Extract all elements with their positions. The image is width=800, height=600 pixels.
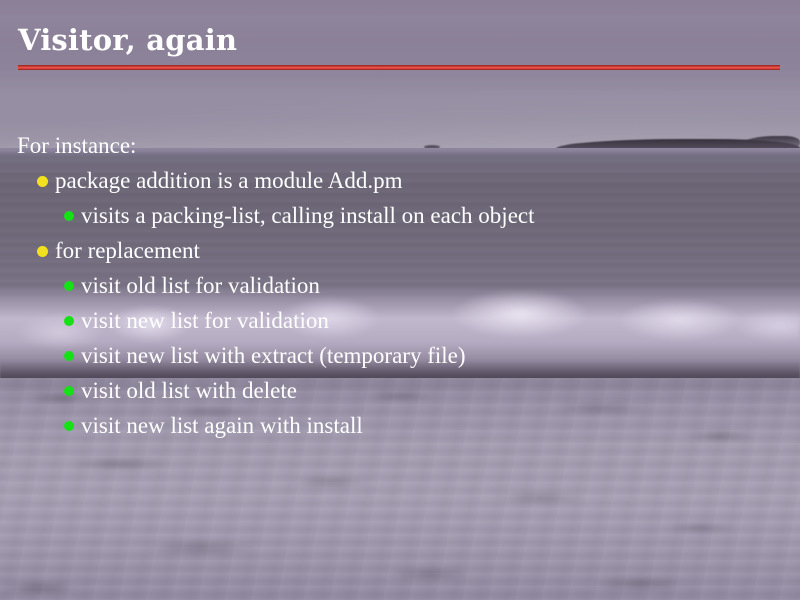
bullet-green-icon xyxy=(64,316,74,326)
bullet-text: visit old list for validation xyxy=(81,268,320,303)
presentation-slide: Visitor, again For instance:package addi… xyxy=(0,0,800,600)
bullet-list-item: visit new list again with install xyxy=(0,408,800,443)
bullet-yellow-icon xyxy=(37,246,48,257)
bullet-text: visits a packing-list, calling install o… xyxy=(81,198,535,233)
bullet-text: For instance: xyxy=(17,128,136,163)
bullet-green-icon xyxy=(64,351,74,361)
bullet-green-icon xyxy=(64,386,74,396)
slide-content: Visitor, again For instance:package addi… xyxy=(0,0,800,600)
bullet-list-item: visit new list for validation xyxy=(0,303,800,338)
bullet-list-item: visit old list for validation xyxy=(0,268,800,303)
bullet-text: for replacement xyxy=(55,233,200,268)
body-lead-line: For instance: xyxy=(0,128,800,163)
bullet-green-icon xyxy=(64,421,74,431)
bullet-text: package addition is a module Add.pm xyxy=(55,163,402,198)
title-underline-rule xyxy=(18,65,780,70)
bullet-text: visit new list again with install xyxy=(81,408,363,443)
bullet-text: visit new list for validation xyxy=(81,303,329,338)
bullet-text: visit old list with delete xyxy=(81,373,297,408)
slide-body-list: For instance:package addition is a modul… xyxy=(0,128,800,443)
bullet-green-icon xyxy=(64,281,74,291)
bullet-green-icon xyxy=(64,211,74,221)
bullet-list-item: visit old list with delete xyxy=(0,373,800,408)
bullet-list-item: visit new list with extract (temporary f… xyxy=(0,338,800,373)
bullet-list-item: for replacement xyxy=(0,233,800,268)
bullet-list-item: visits a packing-list, calling install o… xyxy=(0,198,800,233)
bullet-list-item: package addition is a module Add.pm xyxy=(0,163,800,198)
bullet-text: visit new list with extract (temporary f… xyxy=(81,338,466,373)
bullet-yellow-icon xyxy=(37,176,48,187)
slide-title: Visitor, again xyxy=(18,22,237,58)
